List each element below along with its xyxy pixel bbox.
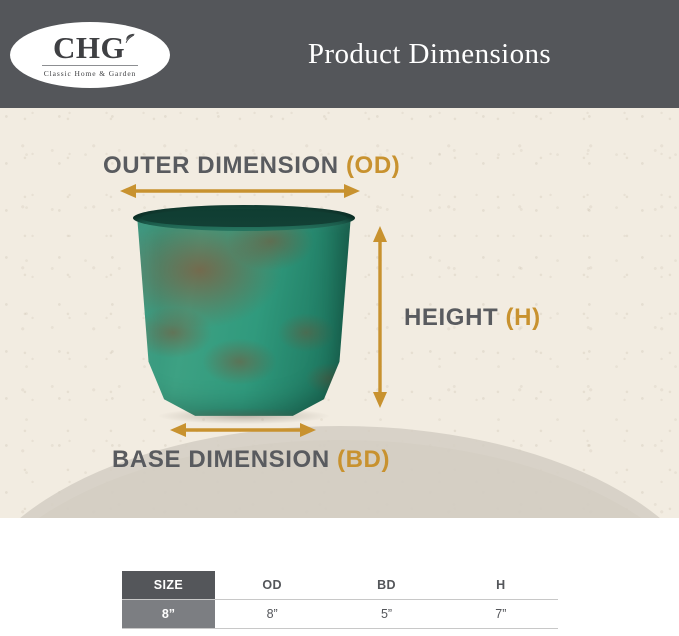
- header-bar: CHG Classic Home & Garden Product Dimens…: [0, 0, 679, 108]
- table-header-row: SIZE OD BD H: [122, 571, 558, 600]
- size-table-head: SIZE OD BD H: [122, 571, 558, 600]
- leaf-icon: [124, 33, 136, 45]
- brand-logo-mark: CHG: [53, 32, 127, 63]
- table-header-od: OD: [215, 571, 329, 600]
- brand-logo-divider: [42, 65, 138, 66]
- label-base-dimension-text: BASE DIMENSION: [112, 446, 337, 473]
- cell-h: 7”: [444, 600, 558, 629]
- size-table: SIZE OD BD H 8” 8” 5” 7”: [122, 571, 558, 629]
- table-row: 8” 8” 5” 7”: [122, 600, 558, 629]
- label-height-text: HEIGHT: [404, 304, 506, 331]
- cell-size: 8”: [122, 600, 215, 629]
- label-base-dimension-code: (BD): [337, 446, 390, 473]
- size-table-wrapper: SIZE OD BD H 8” 8” 5” 7”: [0, 518, 679, 636]
- base-dimension-arrow: [170, 423, 316, 437]
- cell-od: 8”: [215, 600, 329, 629]
- height-dimension-arrow: [373, 226, 387, 408]
- size-table-body: 8” 8” 5” 7”: [122, 600, 558, 629]
- cell-bd: 5”: [329, 600, 443, 629]
- brand-logo-tagline: Classic Home & Garden: [44, 69, 136, 78]
- outer-dimension-arrow: [120, 184, 360, 198]
- brand-logo-inner: CHG Classic Home & Garden: [10, 22, 170, 88]
- table-header-size: SIZE: [122, 571, 215, 600]
- page-title: Product Dimensions: [180, 0, 679, 108]
- brand-logo: CHG Classic Home & Garden: [10, 22, 170, 88]
- label-outer-dimension-text: OUTER DIMENSION: [103, 152, 346, 179]
- label-outer-dimension-code: (OD): [346, 152, 400, 179]
- brand-logo-initials: CHG: [53, 30, 125, 65]
- diagram-panel: OUTER DIMENSION (OD) BASE DIMENSION (BD)…: [0, 108, 679, 518]
- label-height: HEIGHT (H): [404, 304, 541, 332]
- table-header-h: H: [444, 571, 558, 600]
- label-height-code: (H): [506, 304, 541, 331]
- table-header-bd: BD: [329, 571, 443, 600]
- product-dimensions-infographic: CHG Classic Home & Garden Product Dimens…: [0, 0, 679, 636]
- label-base-dimension: BASE DIMENSION (BD): [112, 446, 390, 474]
- label-outer-dimension: OUTER DIMENSION (OD): [103, 152, 400, 180]
